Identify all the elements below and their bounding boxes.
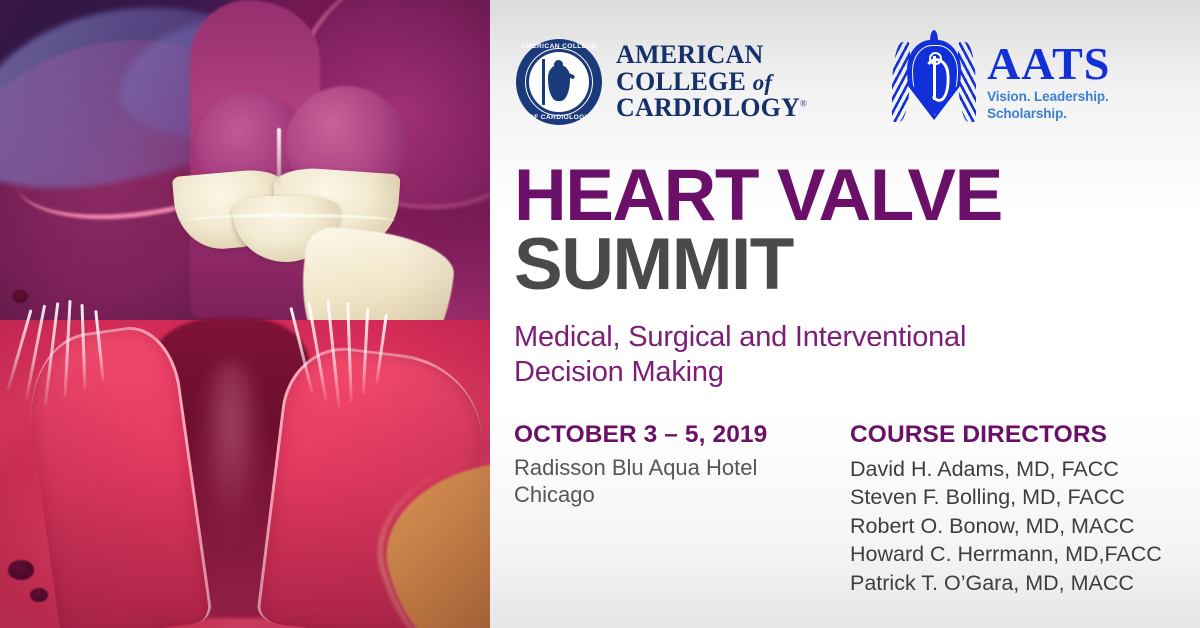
event-promo-banner: AMERICAN COLLEGE OF CARDIOLOGY AMERICAN … bbox=[0, 0, 1200, 628]
list-item: Steven F. Bolling, MD, FACC bbox=[850, 483, 1200, 512]
aats-wordmark: AATS Vision. Leadership. Scholarship. bbox=[987, 42, 1110, 122]
event-venue-line1: Radisson Blu Aqua Hotel bbox=[514, 454, 850, 482]
aats-shield-icon bbox=[891, 30, 977, 134]
acc-wordmark-line3: CARDIOLOGY® bbox=[616, 95, 807, 122]
list-item: Patrick T. O’Gara, MD, MACC bbox=[850, 569, 1200, 598]
acc-seal-icon: AMERICAN COLLEGE OF CARDIOLOGY bbox=[516, 39, 602, 125]
list-item: Howard C. Herrmann, MD,FACC bbox=[850, 540, 1200, 569]
chordae-tendineae-group bbox=[0, 300, 490, 480]
list-item: Robert O. Bonow, MD, MACC bbox=[850, 512, 1200, 541]
event-subtitle: Medical, Surgical and Interventional Dec… bbox=[514, 320, 1200, 391]
valve-commissure bbox=[277, 128, 281, 186]
heart-valve-illustration bbox=[0, 0, 490, 628]
acc-seal-top-text: AMERICAN COLLEGE bbox=[516, 43, 602, 50]
acc-wordmark-of: of bbox=[753, 70, 773, 95]
event-title-line1: HEART VALVE bbox=[514, 162, 1200, 229]
aats-name: AATS bbox=[987, 42, 1110, 86]
event-venue-line2: Chicago bbox=[514, 481, 850, 509]
event-info-row: OCTOBER 3 – 5, 2019 Radisson Blu Aqua Ho… bbox=[490, 421, 1200, 614]
aats-logo: AATS Vision. Leadership. Scholarship. bbox=[891, 30, 1110, 134]
acc-wordmark: AMERICAN COLLEGE of CARDIOLOGY® bbox=[616, 42, 807, 122]
acc-wordmark-line2: COLLEGE of bbox=[616, 69, 807, 96]
registered-trademark-icon: ® bbox=[800, 99, 807, 109]
course-directors-column: COURSE DIRECTORS David H. Adams, MD, FAC… bbox=[850, 421, 1200, 614]
course-directors-heading: COURSE DIRECTORS bbox=[850, 421, 1200, 449]
vessel-ostium-b bbox=[30, 588, 48, 602]
event-subtitle-line2: Decision Making bbox=[514, 355, 1200, 390]
acc-seal-bottom-text: OF CARDIOLOGY bbox=[516, 114, 602, 121]
logo-row: AMERICAN COLLEGE OF CARDIOLOGY AMERICAN … bbox=[490, 0, 1200, 134]
acc-logo: AMERICAN COLLEGE OF CARDIOLOGY AMERICAN … bbox=[516, 39, 807, 125]
course-directors-list: David H. Adams, MD, FACC Steven F. Bolli… bbox=[850, 455, 1200, 598]
aats-tagline-line2: Scholarship. bbox=[987, 106, 1110, 122]
laurel-wreath-right-icon bbox=[958, 42, 976, 122]
aats-tagline-line1: Vision. Leadership. bbox=[987, 89, 1110, 105]
aats-tagline: Vision. Leadership. Scholarship. bbox=[987, 89, 1110, 122]
event-date-venue-column: OCTOBER 3 – 5, 2019 Radisson Blu Aqua Ho… bbox=[514, 421, 850, 614]
acc-seal-figure-icon bbox=[538, 59, 580, 105]
vessel-ostium-a bbox=[8, 560, 34, 580]
title-block: HEART VALVE SUMMIT Medical, Surgical and… bbox=[490, 162, 1200, 391]
content-panel: AMERICAN COLLEGE OF CARDIOLOGY AMERICAN … bbox=[490, 0, 1200, 628]
vessel-ostium-c bbox=[12, 290, 28, 303]
event-dates: OCTOBER 3 – 5, 2019 bbox=[514, 421, 850, 449]
event-title-line2: SUMMIT bbox=[514, 231, 1200, 300]
event-venue: Radisson Blu Aqua Hotel Chicago bbox=[514, 454, 850, 509]
list-item: David H. Adams, MD, FACC bbox=[850, 455, 1200, 484]
event-subtitle-line1: Medical, Surgical and Interventional bbox=[514, 320, 1200, 355]
acc-wordmark-line1: AMERICAN bbox=[616, 42, 807, 69]
